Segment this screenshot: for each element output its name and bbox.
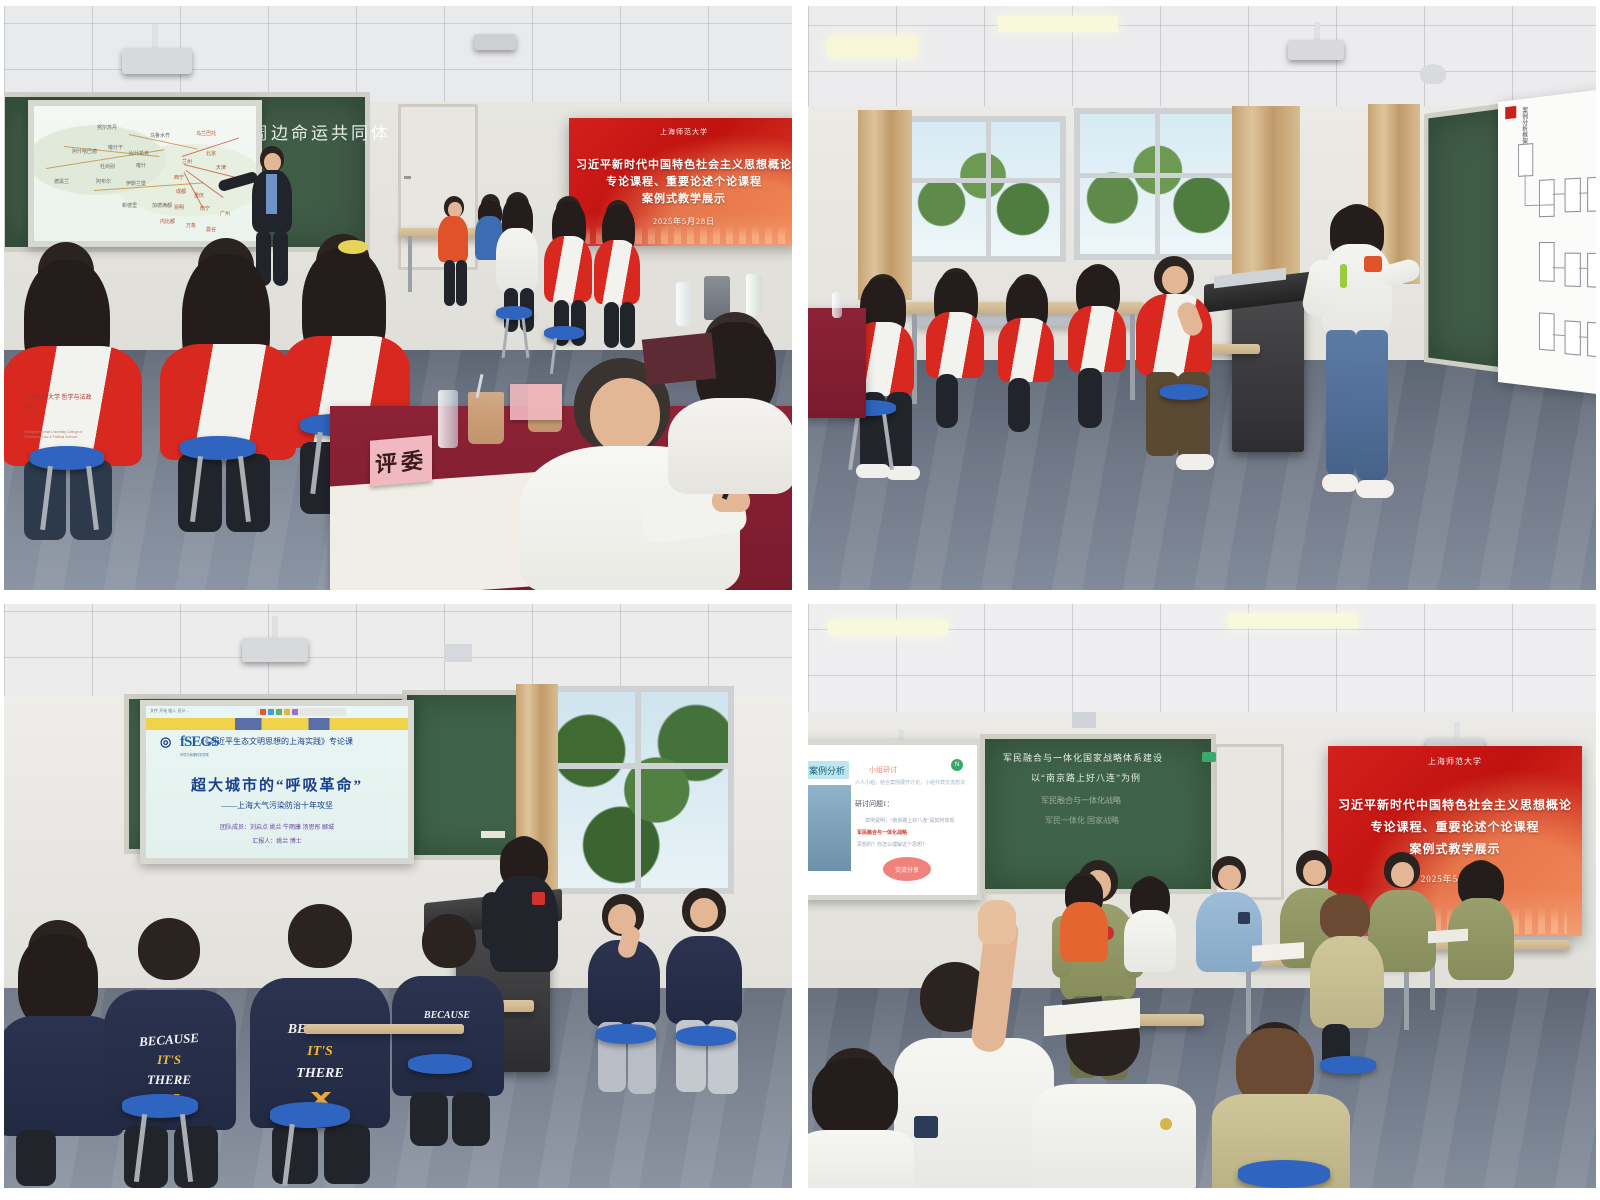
map-city: 昆明 xyxy=(174,204,184,211)
map-city: 杜尚别 xyxy=(100,163,115,170)
hand xyxy=(978,900,1016,944)
side-table-cloth xyxy=(808,308,866,418)
student-presenter xyxy=(1302,204,1420,504)
stool xyxy=(122,1094,198,1118)
shoe xyxy=(1356,480,1394,498)
projector-rod xyxy=(152,24,158,50)
student xyxy=(920,268,994,428)
ceiling-projector xyxy=(242,638,308,662)
table xyxy=(304,1024,464,1034)
drink-cup xyxy=(468,392,504,444)
exit-sign xyxy=(1202,752,1216,762)
stool xyxy=(1160,384,1208,400)
jacket-print-en: Shanghai Normal University College of Ph… xyxy=(24,430,98,440)
ceiling-light xyxy=(828,620,948,636)
notebook xyxy=(642,332,716,385)
question-highlight: 军民融合与一体化战略 xyxy=(857,829,907,836)
chalkboard-line-3: 军民融合与一体化战略 xyxy=(1041,795,1121,806)
jacket-print-cn: 上海师范大学 哲学与法政学院 xyxy=(24,394,94,413)
banner-line-2: 专论课程、重要论述个论课程 xyxy=(569,173,792,189)
university-logo-text: 上海师范大学 xyxy=(1428,756,1482,767)
map-city: 天津 xyxy=(216,164,226,171)
map-city: 乌鲁木齐 xyxy=(150,132,170,139)
banner-line-1: 习近平新时代中国特色社会主义思想概论 xyxy=(1328,796,1582,813)
shoulder-badge xyxy=(1238,912,1250,924)
projection-screen: 案例分析 小组研讨 六人小组，结合案例展开讨论，小组代表交流想法 研讨问题1： … xyxy=(808,740,982,900)
water-bottle xyxy=(746,274,762,316)
slide-team: 团队成员：刘启点 姚兰 牛雨康 汤思彤 郦城 xyxy=(146,822,408,831)
water-bottle xyxy=(438,390,458,448)
student xyxy=(1192,856,1268,1002)
student xyxy=(658,888,750,1094)
map-city: 努尔苏丹 xyxy=(97,124,117,131)
map-city: 伊斯兰堡 xyxy=(126,180,146,187)
projection-screen: 努尔苏丹 乌鲁木齐 乌兰巴托 阿什哈巴德 喀什干 比什凯克 杜尚别 喀什 德黑兰… xyxy=(28,100,262,247)
question-body-b: 思想的？你怎么理解这个思想？ xyxy=(857,841,927,848)
student xyxy=(1062,264,1138,428)
student xyxy=(580,894,668,1094)
button xyxy=(1160,1118,1172,1130)
stool xyxy=(544,326,584,340)
student xyxy=(1120,876,1180,996)
ceiling xyxy=(808,6,1596,118)
shoe xyxy=(1322,474,1358,492)
map-city: 内比都 xyxy=(160,218,175,225)
tshirt-line-2: IT'S xyxy=(270,1044,370,1060)
stool xyxy=(676,1026,736,1046)
badge xyxy=(1364,256,1382,272)
student-back: 上海师范大学 哲学与法政学院 Shanghai Normal Universit… xyxy=(8,242,158,512)
map-city: 曼谷 xyxy=(206,226,216,233)
stool xyxy=(1238,1160,1330,1188)
projection-screen: 文件 开始 插入 设计… ◎ fSEGS 环境与地理科学学院 《习近平生态文明思… xyxy=(140,700,414,864)
chalkboard-text: 周边命运共同体 xyxy=(251,119,391,144)
microphone[interactable] xyxy=(1340,264,1347,288)
question-body-a: 举例说明，“南京路上好八连”是如何体现 xyxy=(865,817,954,824)
map-city: 加德满都 xyxy=(152,202,172,209)
window[interactable] xyxy=(1074,108,1248,260)
student-back xyxy=(808,1048,918,1188)
map-city: 德黑兰 xyxy=(54,178,69,185)
slide-sub: 六人小组，结合案例展开讨论，小组代表交流想法 xyxy=(855,779,965,786)
ceiling-light xyxy=(1228,614,1358,628)
slide-pill: 交流分享 xyxy=(883,857,931,881)
student xyxy=(592,200,642,350)
map-city: 新德里 xyxy=(122,202,137,209)
hair-clip xyxy=(338,240,368,254)
map-city: 乌兰巴托 xyxy=(196,130,216,137)
question-label: 研讨问题1： xyxy=(855,799,894,809)
banner-line-1: 习近平新时代中国特色社会主义思想概论 xyxy=(569,156,792,172)
photo-collage: 周边命运共同体 努尔苏丹 乌鲁木齐 乌兰巴托 阿什哈巴德 喀什干 比什凯克 杜尚 xyxy=(0,0,1600,1200)
speaker xyxy=(444,644,472,662)
ceiling-projector-2 xyxy=(474,34,516,50)
student xyxy=(1056,872,1112,982)
stool xyxy=(596,1024,656,1044)
slide-logo-sub: 环境与地理科学学院 xyxy=(180,752,209,757)
map-city: 重庆 xyxy=(194,192,204,199)
map-city: 喀什干 xyxy=(108,144,123,151)
student-back: BECAUSE IT'S THERE xyxy=(100,918,240,1188)
chalkboard-line-2: 以“南京路上好八连”为例 xyxy=(1031,771,1141,784)
window[interactable] xyxy=(906,116,1066,262)
map-city: 比什凯克 xyxy=(129,150,149,157)
student xyxy=(1128,256,1226,474)
panel-bottom-left: 文件 开始 插入 设计… ◎ fSEGS 环境与地理科学学院 《习近平生态文明思… xyxy=(4,604,792,1188)
map-city: 兰州 xyxy=(182,158,192,165)
stool xyxy=(180,436,256,460)
wall-speaker xyxy=(1072,712,1096,728)
chalkboard-line-1: 军民融合与一体化国家战略体系建设 xyxy=(1003,751,1163,764)
stool xyxy=(408,1054,472,1074)
panel-top-right: 案例分析框架图 xyxy=(808,6,1596,590)
student xyxy=(436,196,470,306)
map-slide: 努尔苏丹 乌鲁木齐 乌兰巴托 阿什哈巴德 喀什干 比什凯克 杜尚别 喀什 德黑兰… xyxy=(34,106,256,241)
map-city: 万象 xyxy=(186,222,196,229)
lectern[interactable] xyxy=(1232,294,1304,452)
banner-line-2: 专论课程、重要论述个论课程 xyxy=(1328,818,1582,835)
student-back: BECAUSE IT'S THERE xyxy=(244,904,394,1184)
map-city: 西宁 xyxy=(174,174,184,181)
stool xyxy=(270,1102,350,1128)
tshirt-line-1: BECAUSE xyxy=(406,1010,488,1021)
map-city: 广州 xyxy=(220,210,230,217)
tshirt-line-3: THERE xyxy=(122,1072,216,1088)
student xyxy=(542,196,594,346)
slide-tag: 案例分析 xyxy=(808,761,849,779)
ceiling-projector xyxy=(122,48,192,74)
stool xyxy=(496,306,532,320)
map-city: 南宁 xyxy=(200,205,210,212)
map-city: 喀什 xyxy=(136,162,146,169)
curtain[interactable] xyxy=(858,110,912,300)
window[interactable] xyxy=(544,686,734,894)
ceiling-light xyxy=(998,16,1118,32)
tshirt-line-2: IT'S xyxy=(122,1052,216,1068)
ceiling-projector xyxy=(1288,40,1344,60)
map-city: 阿什哈巴德 xyxy=(72,148,97,155)
map-city: 阿布尔 xyxy=(96,178,111,185)
map-city: 北京 xyxy=(206,150,216,157)
panel-top-left: 周边命运共同体 努尔苏丹 乌鲁木齐 乌兰巴托 阿什哈巴德 喀什干 比什凯克 杜尚 xyxy=(4,6,792,590)
slide-logo xyxy=(1505,106,1516,119)
ceiling-light xyxy=(828,36,918,58)
map-city: 成都 xyxy=(176,188,186,195)
projection-screen: 案例分析框架图 xyxy=(1498,87,1596,396)
water-bottle xyxy=(832,292,842,318)
slide-subtitle: ——上海大气污染防治十年攻坚 xyxy=(146,800,408,811)
slide-title: 超大城市的“呼吸革命” xyxy=(146,774,408,795)
slide-heading: 小组研讨 xyxy=(869,765,897,775)
chalkboard-line-4: 军民一体化 国家战略 xyxy=(1045,815,1119,826)
university-logo-text: 上海师范大学 xyxy=(660,127,708,137)
slide-presenter: 汇报人：姚兰 博士 xyxy=(146,836,408,845)
slide-course: 《习近平生态文明思想的上海实践》专论课 xyxy=(146,736,408,747)
badge xyxy=(532,892,545,905)
dome-camera xyxy=(1420,64,1446,84)
stool xyxy=(30,446,104,470)
tshirt-line-3: THERE xyxy=(270,1066,370,1082)
door-handle[interactable] xyxy=(404,176,411,179)
panel-bottom-right: 案例分析 小组研讨 六人小组，结合案例展开讨论，小组代表交流想法 研讨问题1： … xyxy=(808,604,1596,1188)
student xyxy=(994,274,1064,432)
judge-placard: 评委 xyxy=(370,435,432,486)
